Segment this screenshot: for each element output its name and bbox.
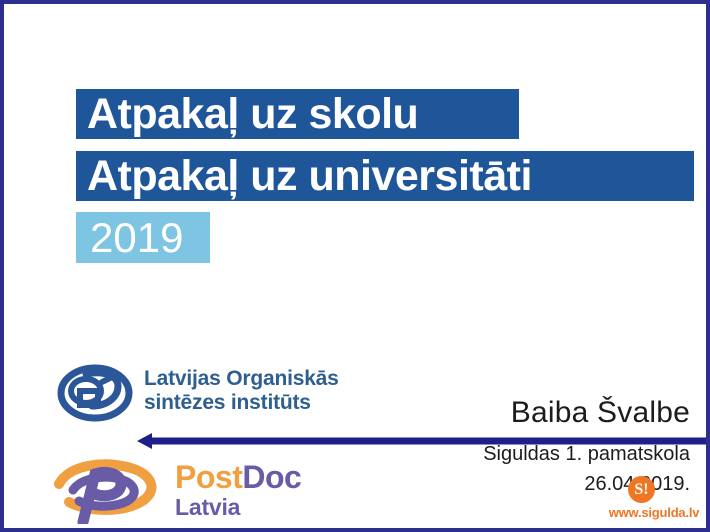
postdoc-subtitle: Latvia [175,496,301,519]
year-text: 2019 [90,214,183,262]
losi-logo: Latvijas Organiskās sintēzes institūts [56,360,339,422]
postdoc-word-post: Post [175,459,242,495]
losi-text-line-1: Latvijas Organiskās [144,367,339,391]
postdoc-logo: PostDoc Latvia [51,456,301,524]
losi-emblem-icon [56,360,134,422]
sigulda-watermark: S! www.sigulda.lv [606,474,702,526]
losi-logo-text: Latvijas Organiskās sintēzes institūts [144,367,339,414]
title-band-line-2: Atpakaļ uz universitāti [76,151,694,201]
losi-text-line-2: sintēzes institūts [144,391,339,415]
title-line-2-text: Atpakaļ uz universitāti [87,152,532,201]
presenter-name: Baiba Švalbe [483,396,690,431]
title-line-1-text: Atpakaļ uz skolu [87,90,418,139]
postdoc-word-doc: Doc [242,459,301,495]
presenter-school: Siguldas 1. pamatskola [483,443,690,466]
postdoc-swirl-icon [51,456,171,524]
presentation-slide: Atpakaļ uz skolu Atpakaļ uz universitāti… [0,0,710,532]
year-band: 2019 [76,212,210,263]
postdoc-wordmark: PostDoc [175,462,301,493]
title-band-line-1: Atpakaļ uz skolu [76,89,519,139]
postdoc-logo-text: PostDoc Latvia [175,462,301,519]
sigulda-url-text: www.sigulda.lv [606,505,702,520]
sigulda-badge-icon: S! [628,476,655,503]
